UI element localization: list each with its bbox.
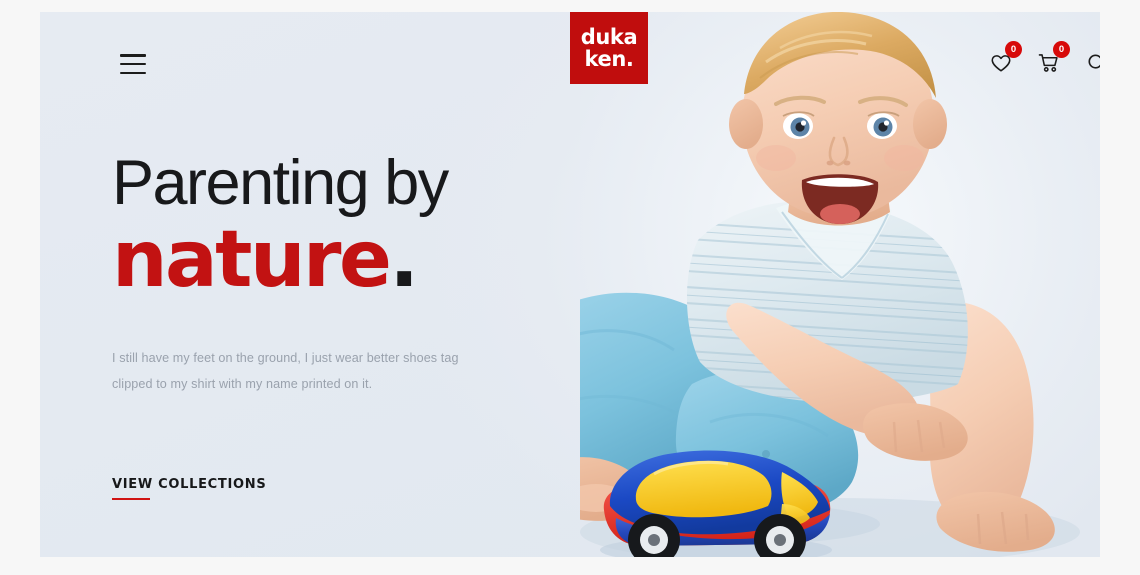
- headline-accent-word: nature: [112, 215, 389, 305]
- cart-button[interactable]: 0: [1036, 50, 1062, 76]
- site-logo[interactable]: duka ken.: [570, 12, 648, 84]
- headline-line-1: Parenting by: [112, 152, 582, 215]
- headline-line-2: nature.: [112, 221, 582, 299]
- hamburger-menu-icon[interactable]: [120, 54, 146, 74]
- header-actions: 0 0: [988, 50, 1100, 76]
- wishlist-button[interactable]: 0: [988, 50, 1014, 76]
- hero-banner: ✦ ✦ ✦ ✦ ✦ ✦ ✦ Parenting by nature. I sti…: [40, 12, 1100, 557]
- headline-period: .: [389, 215, 416, 305]
- cart-count-badge: 0: [1053, 41, 1070, 58]
- logo-line-2: ken.: [585, 48, 634, 70]
- hero-copy: Parenting by nature. I still have my fee…: [112, 152, 582, 398]
- view-collections-label: VIEW COLLECTIONS: [112, 477, 266, 492]
- baby-with-toy-car-photo: [580, 12, 1100, 557]
- view-collections-link[interactable]: VIEW COLLECTIONS: [112, 477, 266, 500]
- site-header: duka ken. 0 0: [40, 12, 1100, 92]
- hero-subtext: I still have my feet on the ground, I ju…: [112, 345, 462, 398]
- search-button[interactable]: [1084, 50, 1100, 76]
- logo-line-1: duka: [581, 26, 638, 48]
- search-icon: [1086, 52, 1100, 74]
- hamburger-line: [120, 63, 146, 66]
- wishlist-count-badge: 0: [1005, 41, 1022, 58]
- view-collections-underline: [112, 498, 150, 500]
- hamburger-line: [120, 72, 146, 75]
- hamburger-line: [120, 54, 146, 57]
- page-title: Parenting by nature.: [112, 152, 582, 299]
